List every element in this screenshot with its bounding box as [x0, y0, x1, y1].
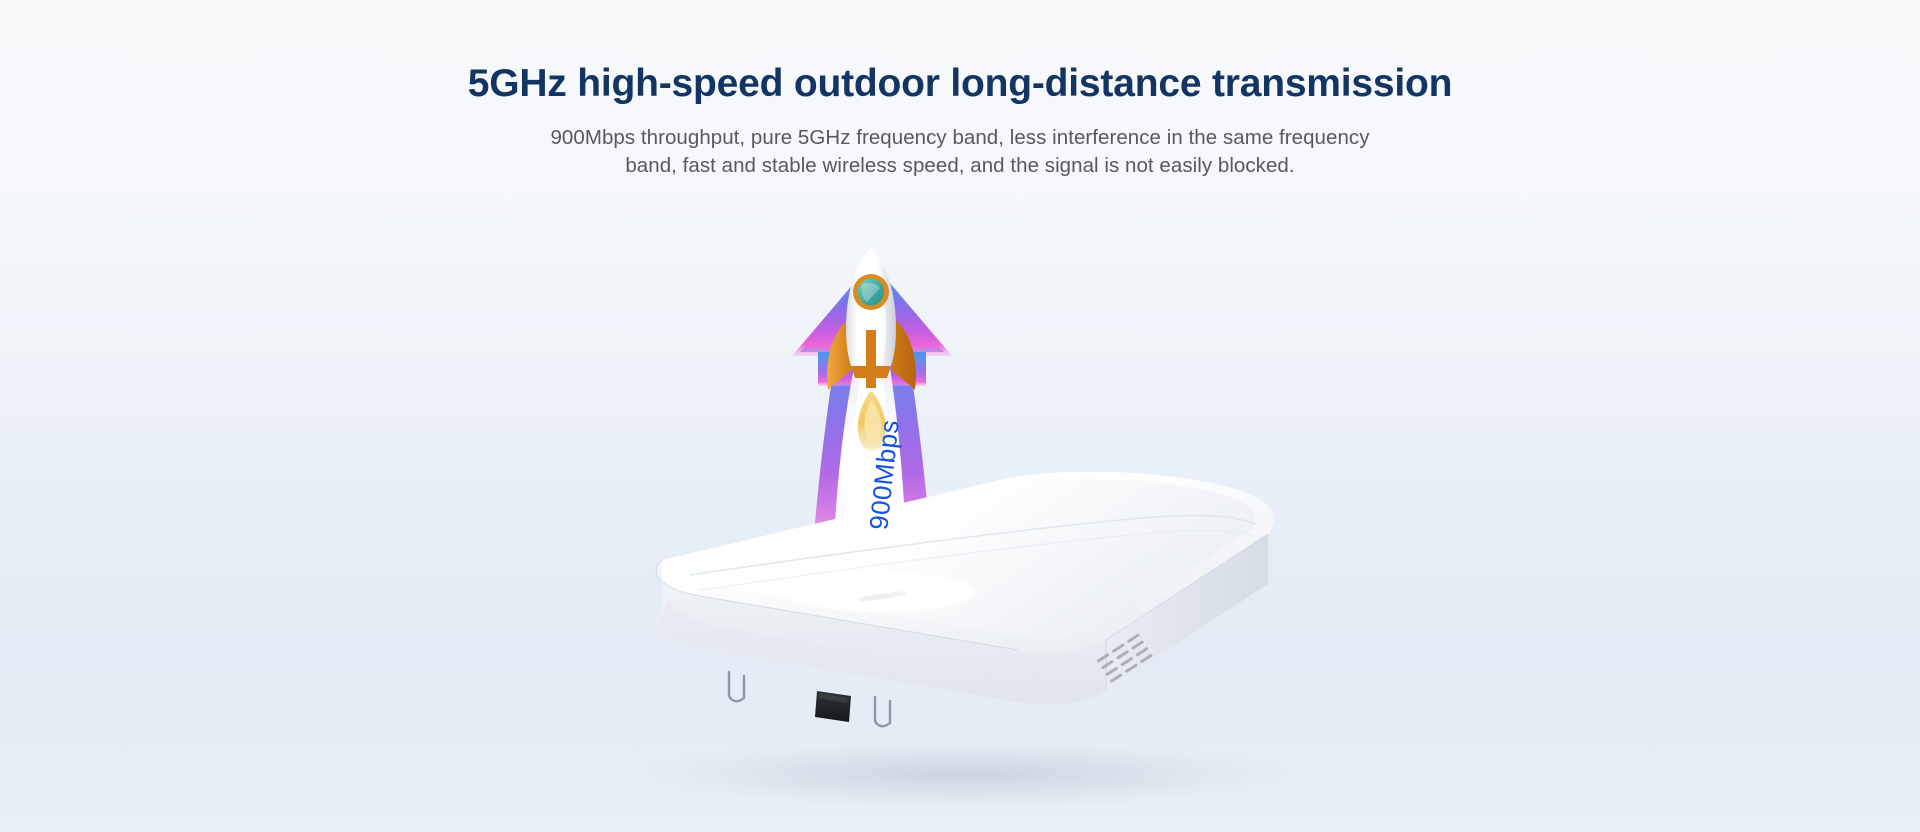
device-front-ports: [729, 672, 890, 726]
rocket-window: [853, 274, 889, 310]
trail-contact-glow: [784, 572, 976, 612]
feature-banner: 900Mbps 5GHz high-speed outdoor long-dis…: [0, 0, 1920, 832]
banner-subtitle-line-1: 900Mbps throughput, pure 5GHz frequency …: [510, 124, 1410, 152]
port-notch-right: [875, 697, 890, 726]
device-ground-shadow: [635, 741, 1295, 809]
port-notch-left: [729, 672, 744, 701]
banner-text-block: 5GHz high-speed outdoor long-distance tr…: [0, 58, 1920, 180]
page-title: 5GHz high-speed outdoor long-distance tr…: [0, 58, 1920, 110]
banner-subtitle: 900Mbps throughput, pure 5GHz frequency …: [510, 124, 1410, 180]
rocket-nozzle: [866, 330, 876, 388]
banner-subtitle-line-2: band, fast and stable wireless speed, an…: [510, 152, 1410, 180]
